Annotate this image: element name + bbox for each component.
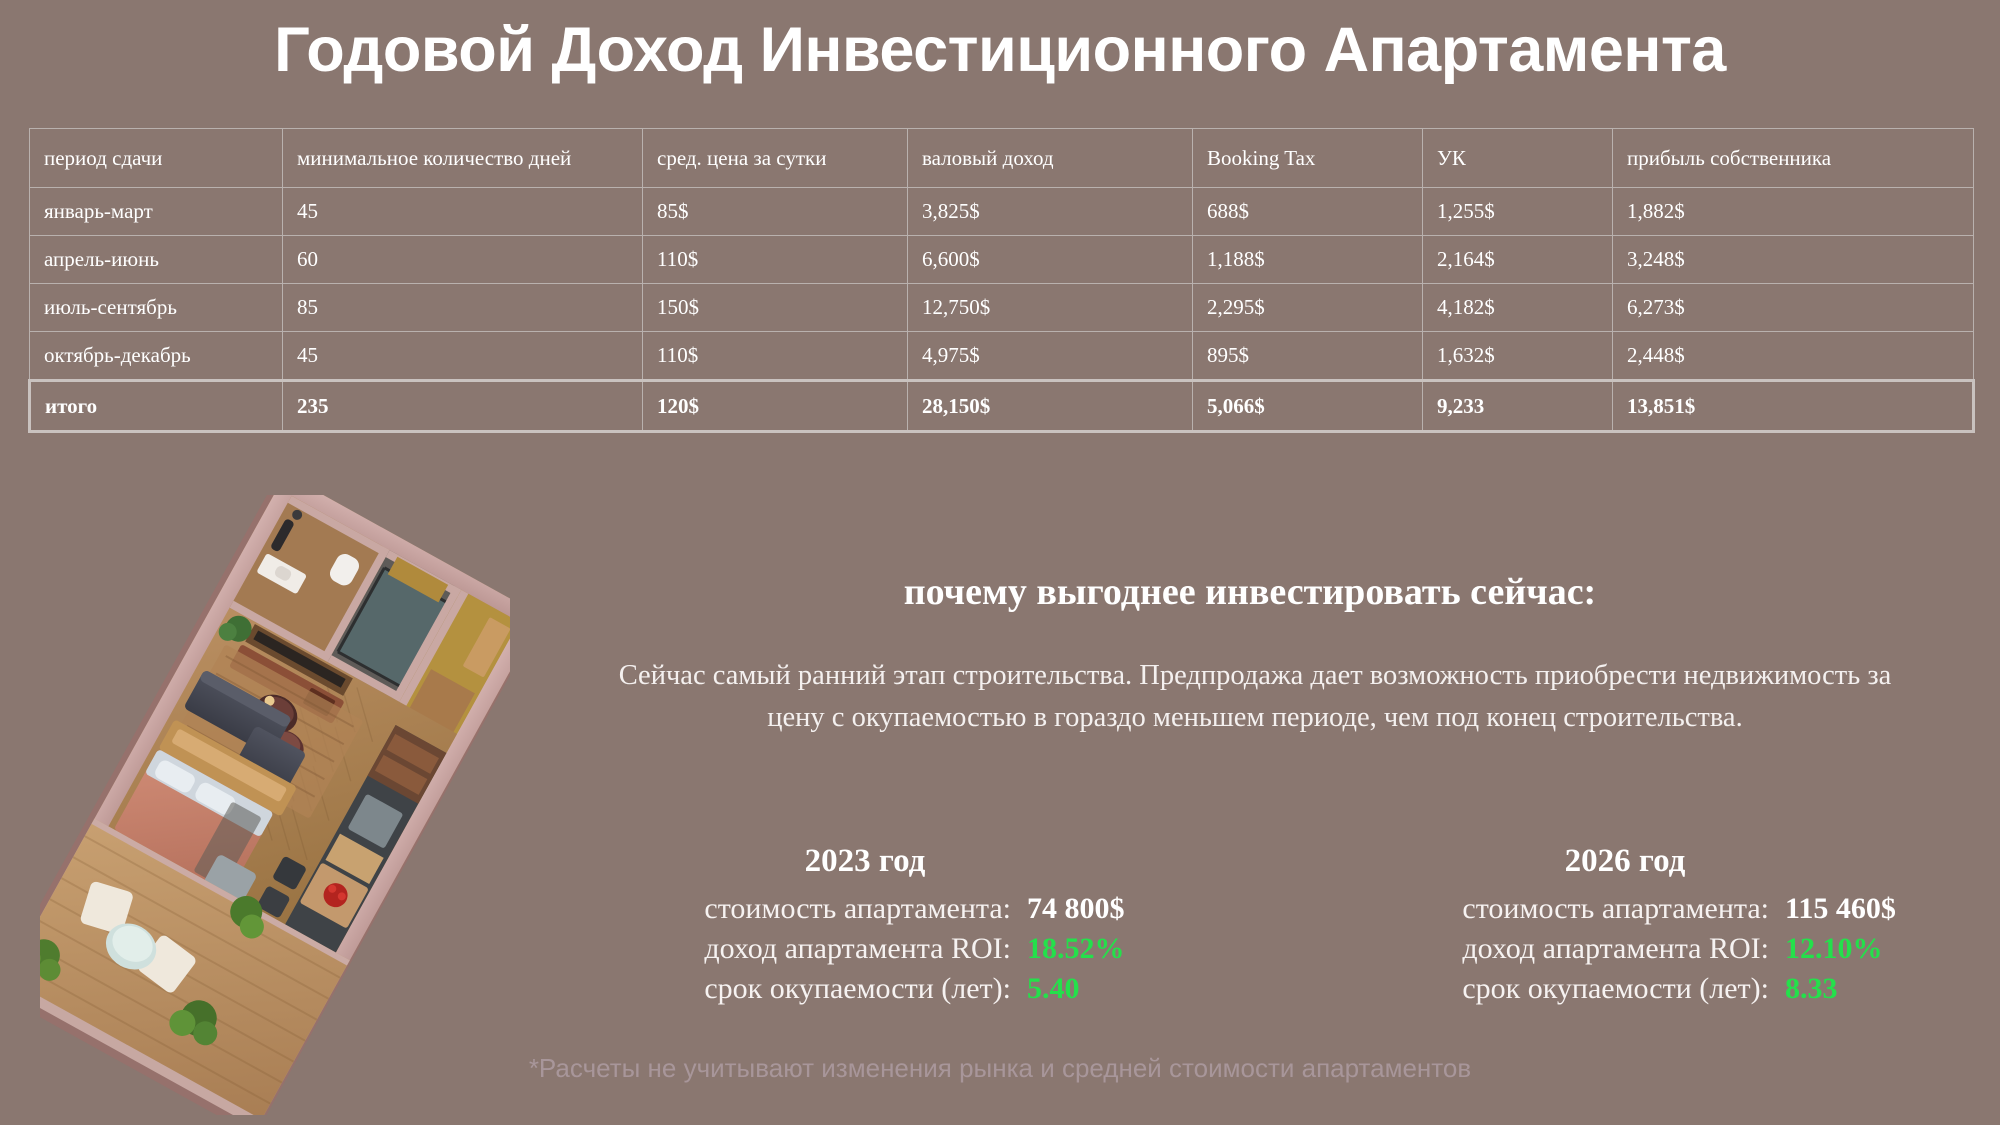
cell-min-days: 85 [283,284,643,332]
cell-gross-income: 4,975$ [908,332,1193,381]
cell-gross-income: 12,750$ [908,284,1193,332]
table-row: апрель-июнь 60 110$ 6,600$ 1,188$ 2,164$… [30,236,1974,284]
total-label: итого [30,381,283,432]
year-block-2026: 2026 год стоимость апартамента: 115 460$… [1280,843,1970,1012]
total-booking-tax: 5,066$ [1193,381,1423,432]
cell-period: апрель-июнь [30,236,283,284]
presentation-slide: Годовой Доход Инвестиционного Апартамент… [0,0,2000,1125]
payback-label-2026: срок окупаемости (лет): [1462,972,1769,1006]
roi-value-2023: 18.52% [1027,932,1185,966]
column-header-owner-profit: прибыль собственника [1613,129,1974,188]
income-table-container: период сдачи минимальное количество дней… [28,128,1972,433]
price-value-2026: 115 460$ [1785,892,1970,926]
table-row: январь-март 45 85$ 3,825$ 688$ 1,255$ 1,… [30,188,1974,236]
why-invest-paragraph: Сейчас самый ранний этап строительства. … [590,655,1920,738]
cell-min-days: 60 [283,236,643,284]
payback-value-2026: 8.33 [1785,972,1970,1006]
table-header: период сдачи минимальное количество дней… [30,129,1974,188]
cell-uk: 1,255$ [1423,188,1613,236]
cell-owner-profit: 2,448$ [1613,332,1974,381]
table-total-row: итого 235 120$ 28,150$ 5,066$ 9,233 13,8… [30,381,1974,432]
total-min-days: 235 [283,381,643,432]
cell-avg-price: 150$ [643,284,908,332]
column-header-gross-income: валовый доход [908,129,1193,188]
table-row: октябрь-декабрь 45 110$ 4,975$ 895$ 1,63… [30,332,1974,381]
cell-uk: 1,632$ [1423,332,1613,381]
cell-gross-income: 6,600$ [908,236,1193,284]
price-label-2026: стоимость апартамента: [1462,892,1769,926]
total-avg-price: 120$ [643,381,908,432]
cell-min-days: 45 [283,332,643,381]
roi-label-2023: доход апартамента ROI: [704,932,1011,966]
year-block-2023: 2023 год стоимость апартамента: 74 800$ … [545,843,1185,1012]
annual-income-table: период сдачи минимальное количество дней… [28,128,1975,433]
cell-avg-price: 85$ [643,188,908,236]
payback-label-2023: срок окупаемости (лет): [704,972,1011,1006]
total-uk: 9,233 [1423,381,1613,432]
total-gross-income: 28,150$ [908,381,1193,432]
cell-booking-tax: 1,188$ [1193,236,1423,284]
cell-period: октябрь-декабрь [30,332,283,381]
cell-period: июль-сентябрь [30,284,283,332]
cell-booking-tax: 688$ [1193,188,1423,236]
roi-label-2026: доход апартамента ROI: [1462,932,1769,966]
column-header-booking-tax: Booking Tax [1193,129,1423,188]
why-invest-heading: почему выгоднее инвестировать сейчас: [540,570,1960,614]
stat-row-price-2026: стоимость апартамента: 115 460$ [1280,892,1970,926]
cell-booking-tax: 895$ [1193,332,1423,381]
stat-row-roi-2026: доход апартамента ROI: 12.10% [1280,932,1970,966]
table-body: январь-март 45 85$ 3,825$ 688$ 1,255$ 1,… [30,188,1974,432]
table-row: июль-сентябрь 85 150$ 12,750$ 2,295$ 4,1… [30,284,1974,332]
column-header-period: период сдачи [30,129,283,188]
column-header-uk: УК [1423,129,1613,188]
cell-avg-price: 110$ [643,236,908,284]
disclaimer-footnote: *Расчеты не учитывают изменения рынка и … [0,1053,2000,1084]
cell-avg-price: 110$ [643,332,908,381]
apartment-floorplan-image [40,495,510,1115]
cell-min-days: 45 [283,188,643,236]
cell-uk: 4,182$ [1423,284,1613,332]
stat-row-roi-2023: доход апартамента ROI: 18.52% [545,932,1185,966]
page-title: Годовой Доход Инвестиционного Апартамент… [0,14,2000,86]
stat-row-payback-2023: срок окупаемости (лет): 5.40 [545,972,1185,1006]
stat-row-payback-2026: срок окупаемости (лет): 8.33 [1280,972,1970,1006]
total-owner-profit: 13,851$ [1613,381,1974,432]
cell-owner-profit: 1,882$ [1613,188,1974,236]
year-2026-title: 2026 год [1280,843,1970,880]
stat-row-price-2023: стоимость апартамента: 74 800$ [545,892,1185,926]
payback-value-2023: 5.40 [1027,972,1185,1006]
cell-period: январь-март [30,188,283,236]
cell-uk: 2,164$ [1423,236,1613,284]
price-label-2023: стоимость апартамента: [704,892,1011,926]
cell-owner-profit: 3,248$ [1613,236,1974,284]
cell-owner-profit: 6,273$ [1613,284,1974,332]
cell-gross-income: 3,825$ [908,188,1193,236]
year-2023-title: 2023 год [545,843,1185,880]
roi-value-2026: 12.10% [1785,932,1970,966]
column-header-min-days: минимальное количество дней [283,129,643,188]
cell-booking-tax: 2,295$ [1193,284,1423,332]
column-header-avg-price: сред. цена за сутки [643,129,908,188]
table-header-row: период сдачи минимальное количество дней… [30,129,1974,188]
price-value-2023: 74 800$ [1027,892,1185,926]
